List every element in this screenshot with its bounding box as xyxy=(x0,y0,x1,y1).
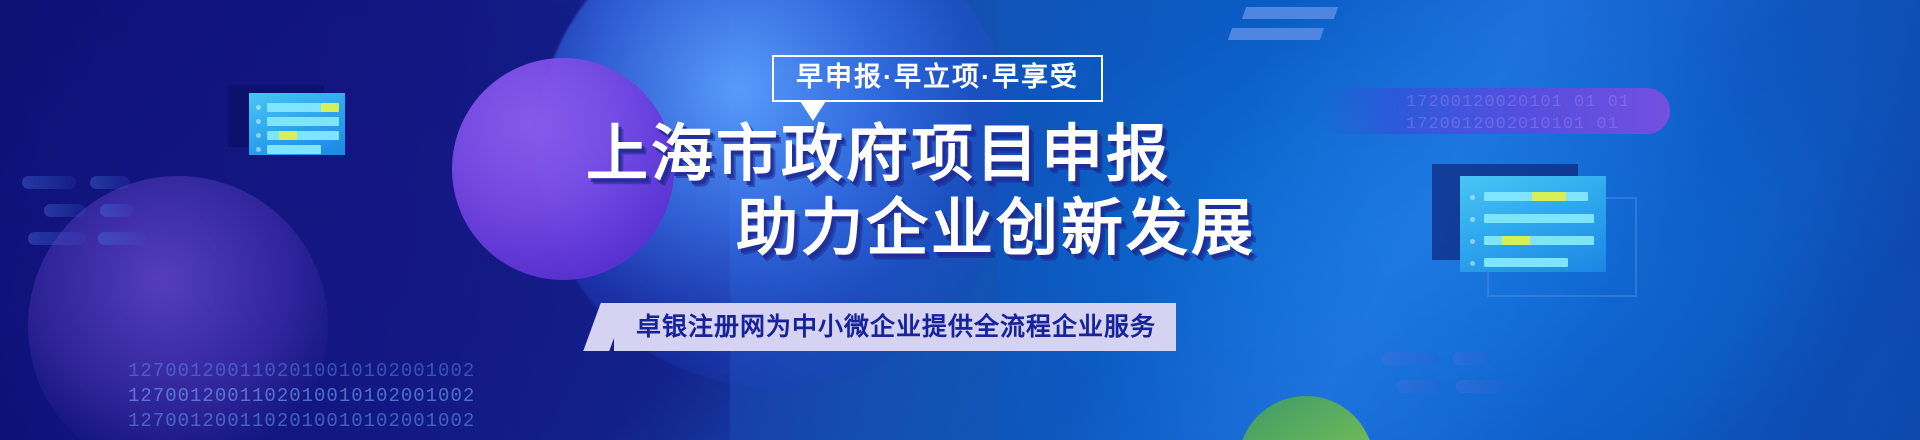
decor-dash xyxy=(1396,380,1442,393)
card-bullet-icon xyxy=(1470,217,1475,222)
promo-tag-pointer-icon xyxy=(800,101,826,121)
card-row-highlight xyxy=(1502,236,1530,245)
purple-orb xyxy=(452,58,674,280)
binary-code-top-right: 17200120020101 01 01 1720012002010101 01 xyxy=(1406,92,1630,136)
card-row-highlight xyxy=(321,103,339,112)
promo-tag: 早申报·早立项·早享受 xyxy=(772,55,1103,102)
card-row xyxy=(267,117,339,126)
card-row xyxy=(1484,214,1594,223)
card-row-highlight xyxy=(279,131,297,140)
card-row xyxy=(267,145,321,154)
decor-dash xyxy=(28,232,86,245)
decor-dash xyxy=(98,232,146,245)
decor-dash xyxy=(1382,352,1440,365)
decor-dash xyxy=(1456,380,1512,393)
green-orb xyxy=(1238,396,1374,440)
card-bullet-icon xyxy=(256,119,261,124)
subtitle-label: 卓银注册网为中小微企业提供全流程企业服务 xyxy=(636,315,1156,340)
decor-dash xyxy=(44,204,86,217)
card-row xyxy=(1484,258,1568,267)
binary-code-bottom-left: 1270012001102010010102001002 12700120011… xyxy=(128,359,475,434)
subtitle-arrow-icon xyxy=(1228,28,1324,40)
subtitle-arrow-icon xyxy=(1242,7,1338,19)
card-row xyxy=(267,131,339,140)
decor-dash xyxy=(90,176,130,189)
document-card-right xyxy=(1460,176,1606,272)
card-bullet-icon xyxy=(256,105,261,110)
card-row xyxy=(1484,236,1594,245)
card-bullet-icon xyxy=(1470,239,1475,244)
decor-dash xyxy=(22,176,76,189)
subtitle-panel: 卓银注册网为中小微企业提供全流程企业服务 xyxy=(614,303,1176,351)
card-bullet-icon xyxy=(1470,261,1475,266)
decor-dash xyxy=(100,204,134,217)
card-bullet-icon xyxy=(256,147,261,152)
card-bullet-icon xyxy=(1470,195,1475,200)
card-row-highlight xyxy=(1532,192,1566,201)
promo-banner: 1270012001102010010102001002 12700120011… xyxy=(0,0,1920,440)
document-card-left xyxy=(249,93,345,155)
decor-dash xyxy=(1452,352,1492,365)
promo-tag-label: 早申报·早立项·早享受 xyxy=(796,64,1079,91)
card-bullet-icon xyxy=(256,133,261,138)
